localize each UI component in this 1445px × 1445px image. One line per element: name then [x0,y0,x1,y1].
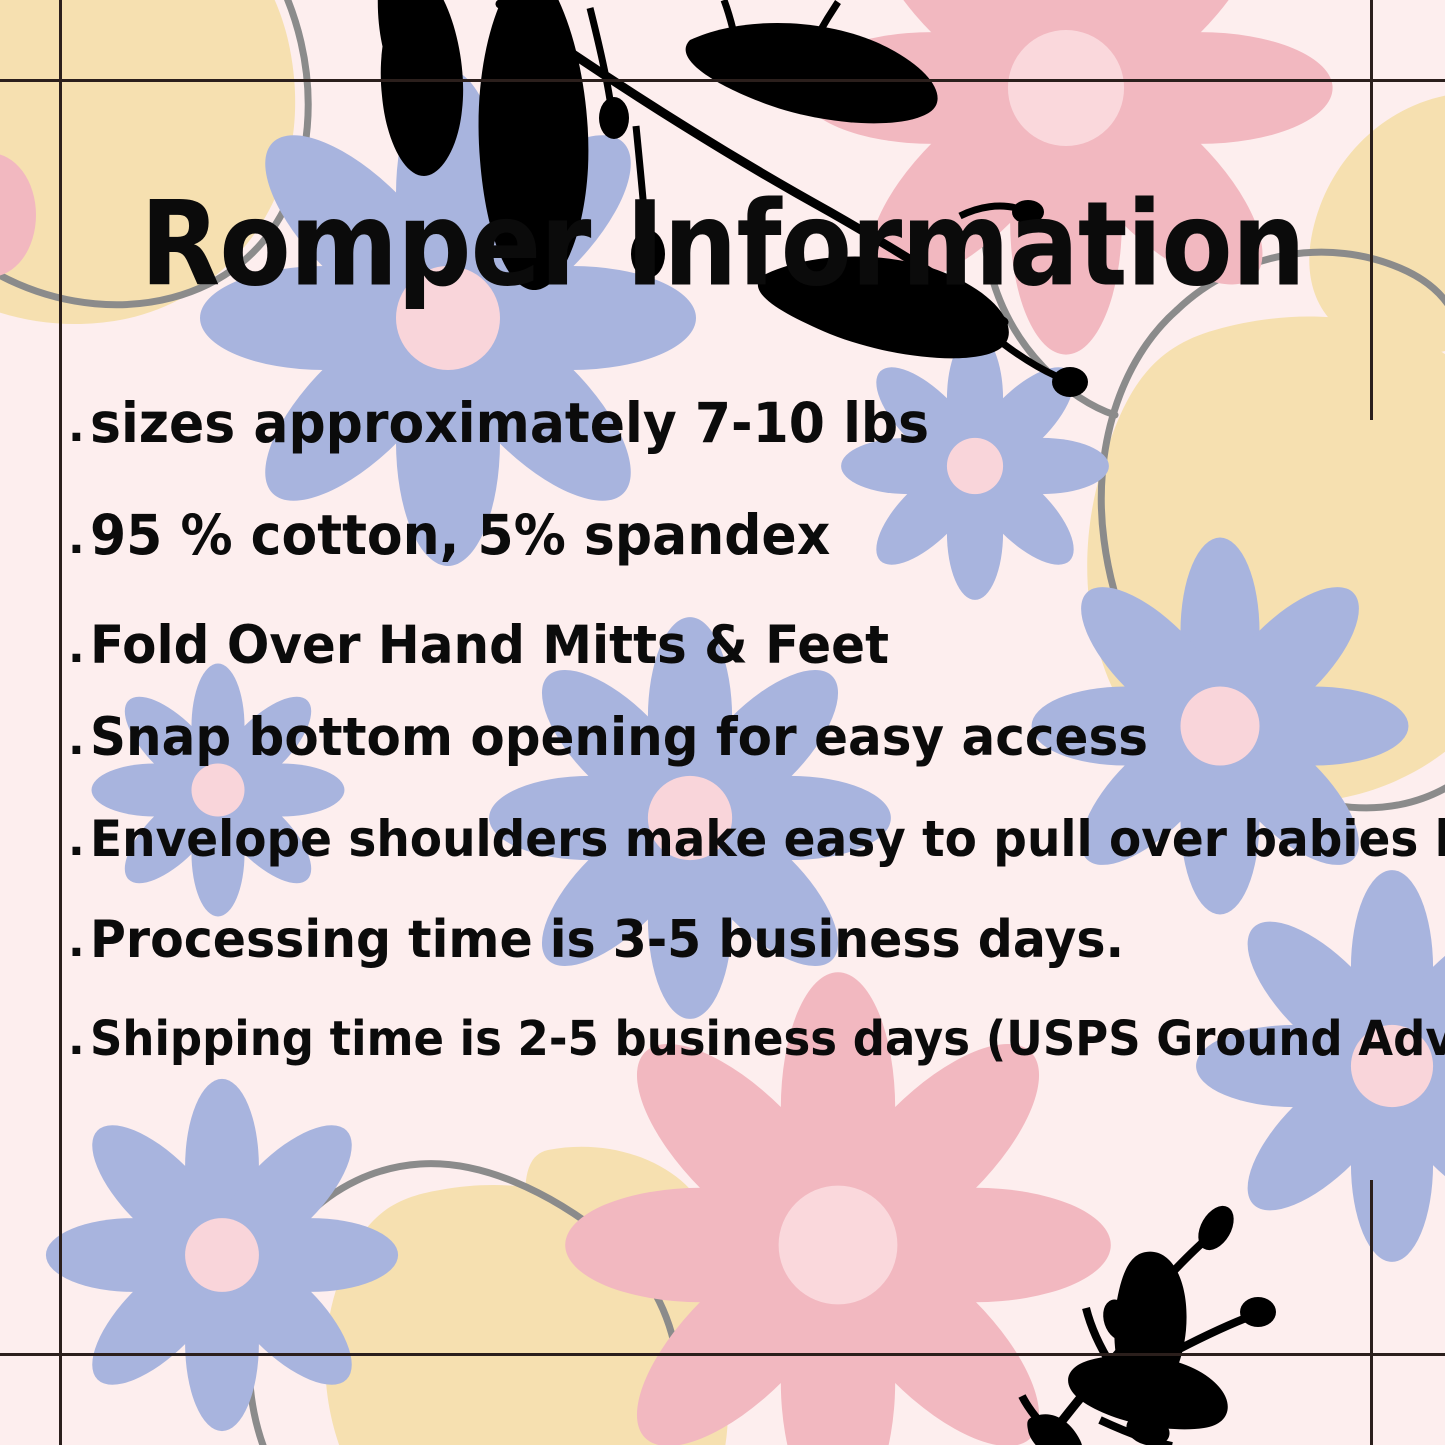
bullet-marker: . [68,405,90,449]
feature-list: . sizes approximately 7-10 lbs . 95 % co… [68,398,1428,1062]
bullet-marker: . [68,517,90,561]
list-item: . 95 % cotton, 5% spandex [68,510,1428,562]
romper-information-poster: Romper Information . sizes approximately… [0,0,1445,1445]
list-item: . Envelope shoulders make easy to pull o… [68,816,1428,863]
bullet-marker: . [68,1018,90,1062]
list-item: . Fold Over Hand Mitts & Feet [68,620,1428,670]
list-item: . Snap bottom opening for easy access [68,712,1428,762]
list-item: . Processing time is 3-5 business days. [68,915,1428,964]
list-item-label: Fold Over Hand Mitts & Feet [90,619,889,672]
list-item: . sizes approximately 7-10 lbs [68,398,1428,450]
list-item-label: Envelope shoulders make easy to pull ove… [90,815,1445,865]
bullet-marker: . [68,920,90,964]
page-title: Romper Information [0,186,1445,302]
list-item-label: sizes approximately 7-10 lbs [90,396,929,451]
bullet-marker: . [68,626,90,670]
list-item-label: 95 % cotton, 5% spandex [90,508,830,563]
bullet-marker: . [68,819,90,863]
list-item: . Shipping time is 2-5 business days (US… [68,1016,1428,1062]
list-item-label: Shipping time is 2-5 business days (USPS… [90,1015,1445,1063]
bullet-marker: . [68,718,90,762]
list-item-label: Snap bottom opening for easy access [90,711,1148,764]
list-item-label: Processing time is 3-5 business days. [90,914,1124,966]
poster-content: Romper Information . sizes approximately… [0,0,1445,1445]
